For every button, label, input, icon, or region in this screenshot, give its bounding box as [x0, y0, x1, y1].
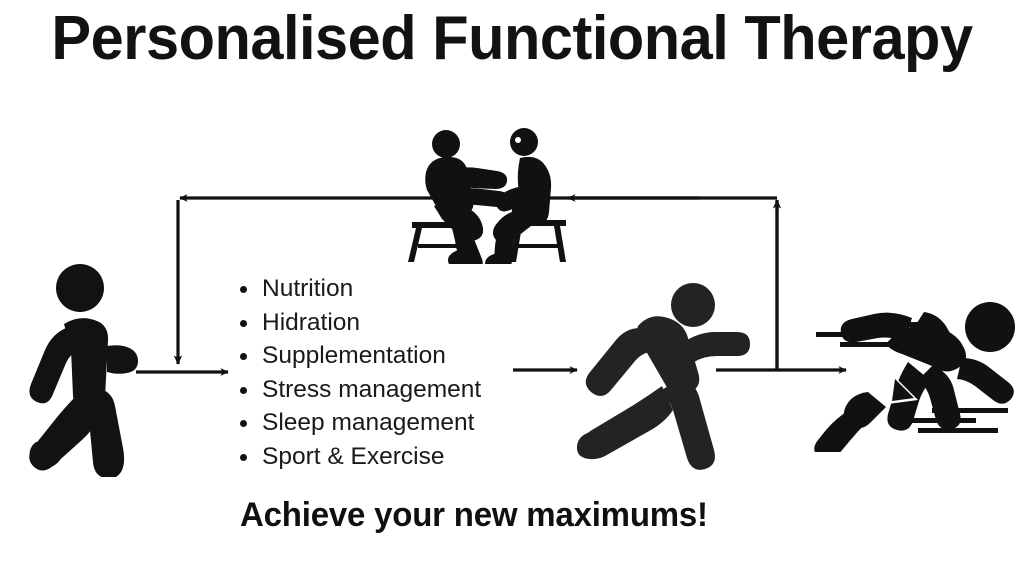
list-item-label: Nutrition — [262, 275, 353, 302]
list-item: Nutrition — [232, 272, 481, 306]
list-item-label: Stress management — [262, 376, 481, 403]
list-item: Hidration — [232, 306, 481, 340]
bullet-icon — [240, 387, 247, 394]
walking-person-figure — [22, 262, 172, 477]
list-item-label: Supplementation — [262, 342, 446, 369]
poster-canvas: Personalised Functional Therapy — [0, 0, 1024, 576]
list-item-label: Hidration — [262, 309, 360, 336]
list-item: Supplementation — [232, 339, 481, 373]
tagline: Achieve your new maximums! — [240, 494, 708, 536]
list-item: Sport & Exercise — [232, 440, 481, 474]
list-item-label: Sport & Exercise — [262, 443, 444, 470]
running-person-figure — [576, 282, 756, 472]
bullet-icon — [240, 353, 247, 360]
bullet-icon — [240, 420, 247, 427]
list-item: Stress management — [232, 373, 481, 407]
list-item-label: Sleep management — [262, 409, 474, 436]
page-title: Personalised Functional Therapy — [49, 4, 974, 74]
sprinting-person-figure — [812, 282, 1024, 452]
bullet-icon — [240, 454, 247, 461]
bullet-icon — [240, 320, 247, 327]
pillars-list: Nutrition Hidration Supplementation Stre… — [232, 272, 481, 474]
list-item: Sleep management — [232, 406, 481, 440]
bullet-icon — [240, 286, 247, 293]
consultation-two-seated-figures — [404, 128, 576, 264]
therapist-figure — [408, 130, 508, 264]
